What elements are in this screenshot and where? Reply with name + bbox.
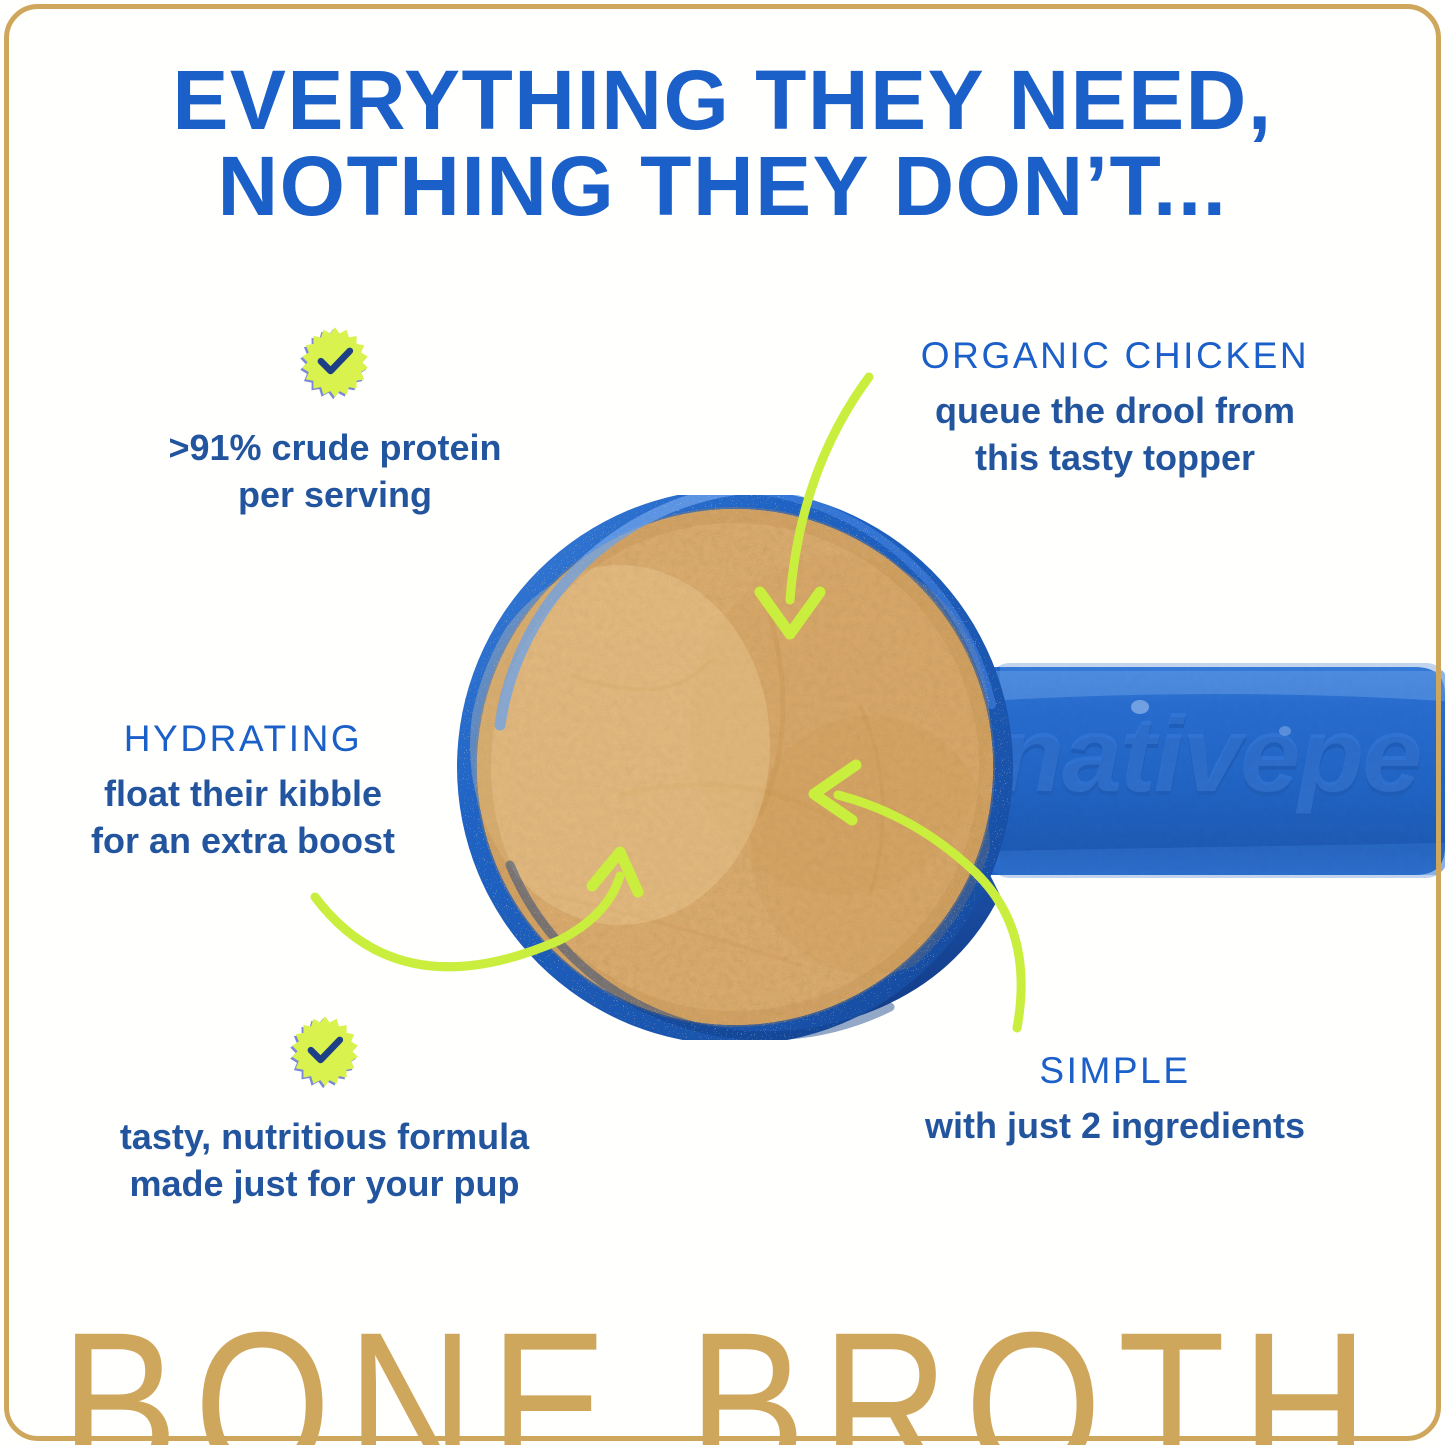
- callout-body: with just 2 ingredients: [905, 1103, 1325, 1150]
- scoop-bowl: [457, 495, 1013, 1040]
- callout-crude-protein: >91% crude protein per serving: [125, 325, 545, 519]
- callout-kicker: ORGANIC CHICKEN: [885, 335, 1345, 376]
- product-photo-scoop: nativepe nativepe: [440, 495, 1445, 1040]
- callout-kicker: SIMPLE: [905, 1050, 1325, 1091]
- callout-body-line-1: float their kibble: [58, 771, 428, 818]
- callout-organic-chicken: ORGANIC CHICKEN queue the drool from thi…: [885, 335, 1345, 482]
- headline-line-2: NOTHING THEY DON’T...: [0, 144, 1445, 230]
- callout-body-line-1: tasty, nutritious formula: [103, 1114, 546, 1161]
- product-wordmark: BONE BROTH: [0, 1302, 1445, 1445]
- callout-body: >91% crude protein per serving: [125, 425, 545, 519]
- callout-tasty-formula: tasty, nutritious formula made just for …: [103, 1014, 546, 1208]
- callout-body-line-2: for an extra boost: [58, 818, 428, 865]
- callout-body-line-1: queue the drool from: [885, 388, 1345, 435]
- callout-body: queue the drool from this tasty topper: [885, 388, 1345, 482]
- callout-body-line-1: with just 2 ingredients: [905, 1103, 1325, 1150]
- page-title: EVERYTHING THEY NEED, NOTHING THEY DON’T…: [0, 58, 1445, 229]
- check-badge-icon: [288, 1014, 362, 1088]
- callout-body: float their kibble for an extra boost: [58, 771, 428, 865]
- callout-body-line-2: this tasty topper: [885, 435, 1345, 482]
- callout-body-line-2: per serving: [125, 472, 545, 519]
- headline-line-1: EVERYTHING THEY NEED,: [172, 53, 1272, 147]
- callout-hydrating: HYDRATING float their kibble for an extr…: [58, 718, 428, 865]
- infographic-canvas: nativepe nativepe: [0, 0, 1445, 1445]
- callout-simple: SIMPLE with just 2 ingredients: [905, 1050, 1325, 1150]
- callout-body-line-1: >91% crude protein: [125, 425, 545, 472]
- callout-body: tasty, nutritious formula made just for …: [103, 1114, 546, 1208]
- callout-body-line-2: made just for your pup: [103, 1161, 546, 1208]
- callout-kicker: HYDRATING: [58, 718, 428, 759]
- check-badge-icon: [298, 325, 372, 399]
